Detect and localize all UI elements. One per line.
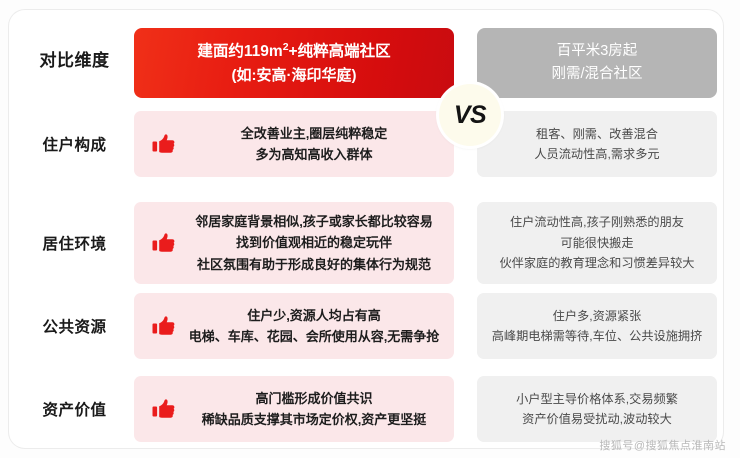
row-label-4: 资产价值: [17, 376, 132, 442]
premium-cell-text-3: 住户少,资源人均占有高电梯、车库、花园、会所使用从容,无需争抢: [134, 305, 454, 347]
text-line: 住户流动性高,孩子刚熟悉的朋友: [500, 212, 695, 233]
header-right-line1: 百平米3房起: [557, 40, 638, 63]
premium-cell-4: 高门槛形成价值共识稀缺品质支撑其市场定价权,资产更坚挺: [134, 376, 454, 442]
premium-cell-text-1: 全改善业主,圈层纯粹稳定多为高知高收入群体: [134, 123, 454, 165]
text-line: 人员流动性高,需求多元: [534, 144, 659, 165]
header-left-premium: 建面约119m2+纯粹高端社区 (如:安高·海印华庭): [134, 28, 454, 98]
standard-cell-text-1: 租客、刚需、改善混合人员流动性高,需求多元: [524, 124, 669, 165]
header-right-line2: 刚需/混合社区: [551, 63, 642, 86]
comparison-card: 对比维度 建面约119m2+纯粹高端社区 (如:安高·海印华庭) 百平米3房起 …: [9, 10, 723, 448]
vs-badge: VS: [439, 84, 501, 146]
text-line: 资产价值易受扰动,波动较大: [516, 409, 678, 430]
text-line: 社区氛围有助于形成良好的集体行为规范: [186, 254, 442, 275]
comparison-row: 住户构成全改善业主,圈层纯粹稳定多为高知高收入群体租客、刚需、改善混合人员流动性…: [9, 111, 723, 177]
text-line: 高门槛形成价值共识: [186, 388, 442, 409]
comparison-infographic: 对比维度 建面约119m2+纯粹高端社区 (如:安高·海印华庭) 百平米3房起 …: [0, 0, 740, 458]
standard-cell-text-3: 住户多,资源紧张高峰期电梯需等待,车位、公共设施拥挤: [482, 306, 713, 347]
table-header: 对比维度 建面约119m2+纯粹高端社区 (如:安高·海印华庭) 百平米3房起 …: [9, 10, 723, 106]
thumbs-up-icon: [152, 132, 176, 156]
header-right-standard: 百平米3房起 刚需/混合社区: [477, 28, 717, 98]
dimension-column-header: 对比维度: [17, 10, 132, 106]
thumbs-up-icon: [152, 397, 176, 421]
premium-cell-1: 全改善业主,圈层纯粹稳定多为高知高收入群体: [134, 111, 454, 177]
thumbs-up-icon: [152, 231, 176, 255]
watermark: 搜狐号@搜狐焦点淮南站: [599, 437, 726, 453]
text-line: 找到价值观相近的稳定玩伴: [186, 232, 442, 253]
standard-cell-text-2: 住户流动性高,孩子刚熟悉的朋友可能很快搬走伙伴家庭的教育理念和习惯差异较大: [490, 212, 705, 274]
comparison-row: 公共资源住户少,资源人均占有高电梯、车库、花园、会所使用从容,无需争抢住户多,资…: [9, 293, 723, 359]
text-line: 多为高知高收入群体: [186, 144, 442, 165]
thumbs-up-icon: [152, 314, 176, 338]
text-line: 邻居家庭背景相似,孩子或家长都比较容易: [186, 211, 442, 232]
text-line: 小户型主导价格体系,交易频繁: [516, 389, 678, 410]
comparison-row: 资产价值高门槛形成价值共识稀缺品质支撑其市场定价权,资产更坚挺小户型主导价格体系…: [9, 376, 723, 442]
text-line: 住户多,资源紧张: [492, 306, 703, 327]
standard-cell-3: 住户多,资源紧张高峰期电梯需等待,车位、公共设施拥挤: [477, 293, 717, 359]
text-line: 可能很快搬走: [500, 233, 695, 254]
standard-cell-1: 租客、刚需、改善混合人员流动性高,需求多元: [477, 111, 717, 177]
text-line: 高峰期电梯需等待,车位、公共设施拥挤: [492, 326, 703, 347]
standard-cell-text-4: 小户型主导价格体系,交易频繁资产价值易受扰动,波动较大: [506, 389, 688, 430]
text-line: 全改善业主,圈层纯粹稳定: [186, 123, 442, 144]
comparison-row: 居住环境邻居家庭背景相似,孩子或家长都比较容易找到价值观相近的稳定玩伴社区氛围有…: [9, 202, 723, 284]
row-label-1: 住户构成: [17, 111, 132, 177]
premium-cell-text-2: 邻居家庭背景相似,孩子或家长都比较容易找到价值观相近的稳定玩伴社区氛围有助于形成…: [134, 211, 454, 274]
premium-cell-2: 邻居家庭背景相似,孩子或家长都比较容易找到价值观相近的稳定玩伴社区氛围有助于形成…: [134, 202, 454, 284]
vs-badge-label: VS: [454, 101, 486, 130]
premium-cell-3: 住户少,资源人均占有高电梯、车库、花园、会所使用从容,无需争抢: [134, 293, 454, 359]
text-line: 稀缺品质支撑其市场定价权,资产更坚挺: [186, 409, 442, 430]
text-line: 住户少,资源人均占有高: [186, 305, 442, 326]
standard-cell-2: 住户流动性高,孩子刚熟悉的朋友可能很快搬走伙伴家庭的教育理念和习惯差异较大: [477, 202, 717, 284]
header-left-line1: 建面约119m2+纯粹高端社区: [197, 39, 390, 64]
standard-cell-4: 小户型主导价格体系,交易频繁资产价值易受扰动,波动较大: [477, 376, 717, 442]
row-label-3: 公共资源: [17, 293, 132, 359]
row-label-2: 居住环境: [17, 202, 132, 284]
text-line: 伙伴家庭的教育理念和习惯差异较大: [500, 253, 695, 274]
text-line: 电梯、车库、花园、会所使用从容,无需争抢: [186, 326, 442, 347]
text-line: 租客、刚需、改善混合: [534, 124, 659, 145]
header-left-line2: (如:安高·海印华庭): [232, 64, 357, 87]
premium-cell-text-4: 高门槛形成价值共识稀缺品质支撑其市场定价权,资产更坚挺: [134, 388, 454, 430]
